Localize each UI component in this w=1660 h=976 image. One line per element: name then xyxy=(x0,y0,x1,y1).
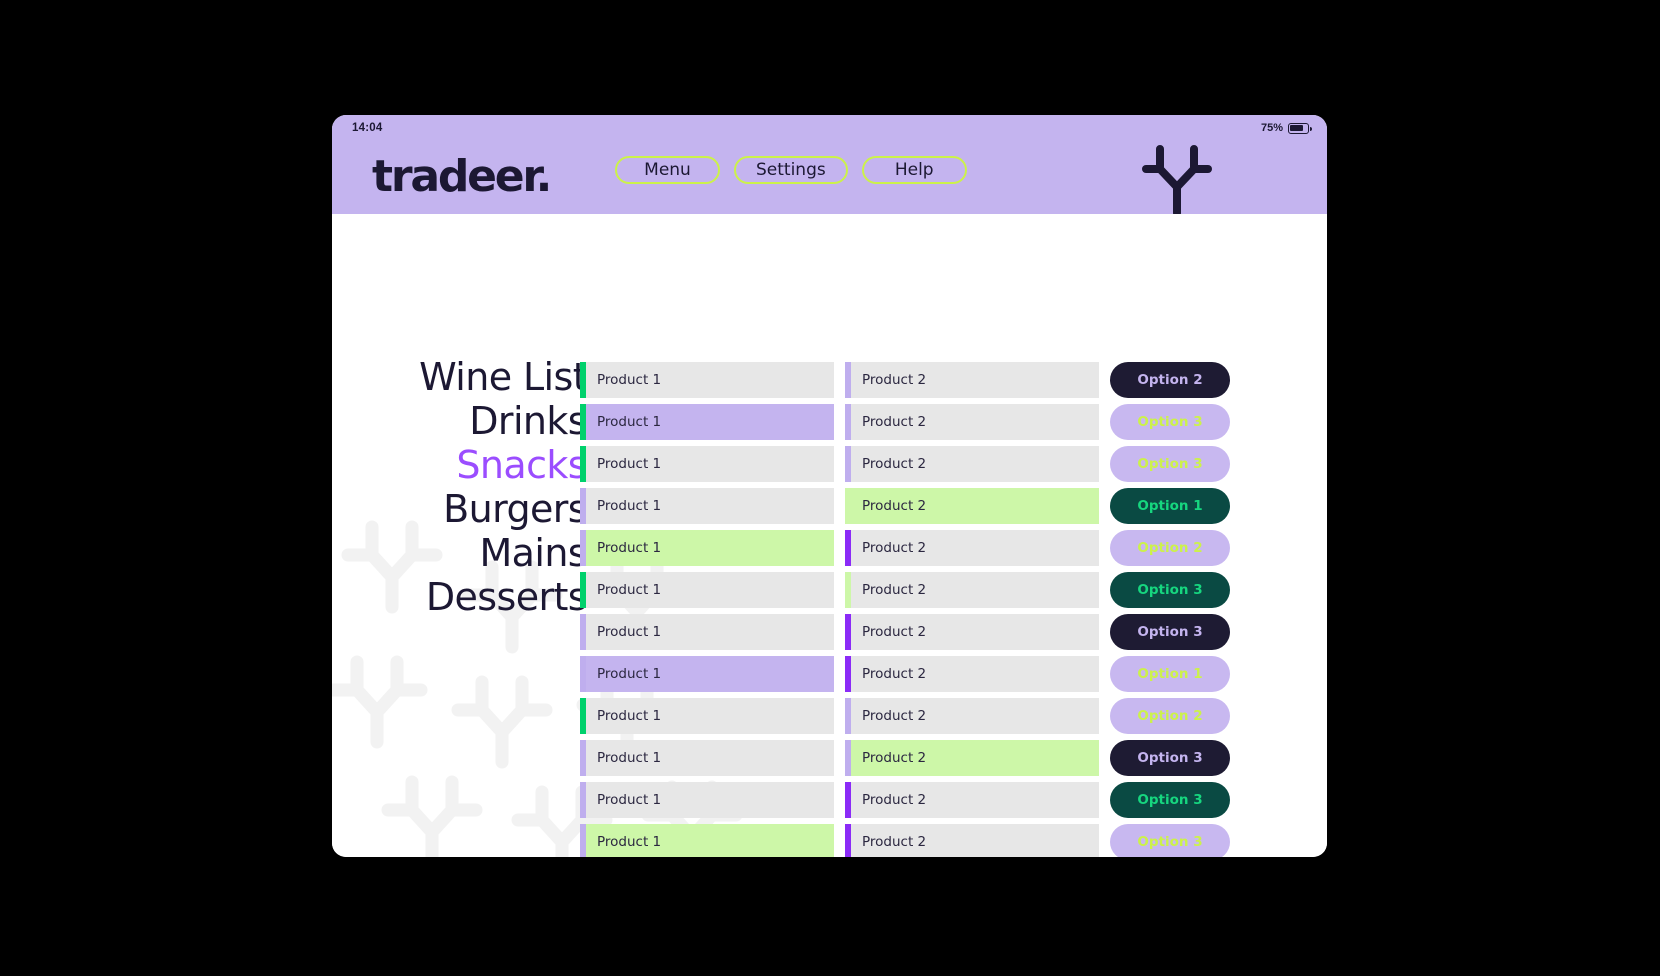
product-cell-label: Product 2 xyxy=(862,372,926,388)
battery-fill xyxy=(1290,125,1302,131)
product-cell-label: Product 1 xyxy=(597,708,661,724)
row-accent-bar xyxy=(580,572,586,608)
brand-wordmark-text: tradeer xyxy=(372,151,536,202)
sidebar-item-mains[interactable]: Mains xyxy=(372,531,587,575)
row-accent-bar xyxy=(845,488,851,524)
option-button-label: Option 3 xyxy=(1137,750,1202,766)
table-row: Product 1Product 2Option 3 xyxy=(580,614,1280,650)
product-cell-label: Product 2 xyxy=(862,750,926,766)
option-button-label: Option 3 xyxy=(1137,582,1202,598)
product-cell-2[interactable]: Product 2 xyxy=(845,488,1099,524)
option-button[interactable]: Option 3 xyxy=(1110,824,1230,857)
category-menu: Wine List Drinks Snacks Burgers Mains De… xyxy=(372,355,587,619)
table-row: Product 1Product 2Option 3 xyxy=(580,404,1280,440)
table-row: Product 1Product 2Option 1 xyxy=(580,488,1280,524)
product-cell-2[interactable]: Product 2 xyxy=(845,446,1099,482)
row-accent-bar xyxy=(580,446,586,482)
product-cell-1[interactable]: Product 1 xyxy=(580,698,834,734)
row-accent-bar xyxy=(580,530,586,566)
main-content: Wine List Drinks Snacks Burgers Mains De… xyxy=(332,214,1327,857)
product-cell-1[interactable]: Product 1 xyxy=(580,782,834,818)
option-button[interactable]: Option 2 xyxy=(1110,362,1230,398)
row-accent-bar xyxy=(845,404,851,440)
row-accent-bar xyxy=(580,488,586,524)
row-accent-bar xyxy=(580,824,586,857)
option-button-label: Option 2 xyxy=(1137,708,1202,724)
product-cell-label: Product 1 xyxy=(597,498,661,514)
option-button-label: Option 1 xyxy=(1137,666,1202,682)
product-cell-label: Product 2 xyxy=(862,456,926,472)
product-cell-label: Product 1 xyxy=(597,540,661,556)
nav-button-settings[interactable]: Settings xyxy=(734,156,848,184)
product-cell-label: Product 1 xyxy=(597,750,661,766)
table-row: Product 1Product 2Option 3 xyxy=(580,740,1280,776)
product-cell-2[interactable]: Product 2 xyxy=(845,698,1099,734)
row-accent-bar xyxy=(845,614,851,650)
option-button-label: Option 2 xyxy=(1137,372,1202,388)
product-cell-1[interactable]: Product 1 xyxy=(580,614,834,650)
row-accent-bar xyxy=(845,362,851,398)
product-cell-1[interactable]: Product 1 xyxy=(580,362,834,398)
product-cell-label: Product 2 xyxy=(862,540,926,556)
row-accent-bar xyxy=(580,782,586,818)
option-button-label: Option 3 xyxy=(1137,792,1202,808)
product-cell-2[interactable]: Product 2 xyxy=(845,782,1099,818)
sidebar-item-drinks[interactable]: Drinks xyxy=(372,399,587,443)
nav-button-help[interactable]: Help xyxy=(862,156,967,184)
row-accent-bar xyxy=(845,824,851,857)
option-button[interactable]: Option 1 xyxy=(1110,656,1230,692)
product-cell-2[interactable]: Product 2 xyxy=(845,740,1099,776)
row-accent-bar xyxy=(845,530,851,566)
table-row: Product 1Product 2Option 2 xyxy=(580,698,1280,734)
sidebar-item-desserts[interactable]: Desserts xyxy=(372,575,587,619)
option-button[interactable]: Option 3 xyxy=(1110,446,1230,482)
table-row: Product 1Product 2Option 2 xyxy=(580,530,1280,566)
product-cell-1[interactable]: Product 1 xyxy=(580,656,834,692)
product-cell-2[interactable]: Product 2 xyxy=(845,824,1099,857)
product-cell-label: Product 1 xyxy=(597,456,661,472)
status-time: 14:04 xyxy=(352,122,382,134)
option-button[interactable]: Option 3 xyxy=(1110,782,1230,818)
nav-button-menu[interactable]: Menu xyxy=(615,156,720,184)
option-button-label: Option 1 xyxy=(1137,498,1202,514)
option-button-label: Option 3 xyxy=(1137,414,1202,430)
option-button[interactable]: Option 3 xyxy=(1110,404,1230,440)
product-cell-1[interactable]: Product 1 xyxy=(580,572,834,608)
row-accent-bar xyxy=(580,404,586,440)
row-accent-bar xyxy=(580,656,586,692)
product-cell-2[interactable]: Product 2 xyxy=(845,404,1099,440)
row-accent-bar xyxy=(845,446,851,482)
product-cell-label: Product 1 xyxy=(597,834,661,850)
tablet-device-frame: 14:04 75% tradeer. Menu Se xyxy=(332,115,1327,857)
product-cell-1[interactable]: Product 1 xyxy=(580,488,834,524)
row-accent-bar xyxy=(580,698,586,734)
product-cell-2[interactable]: Product 2 xyxy=(845,530,1099,566)
sidebar-item-wine-list[interactable]: Wine List xyxy=(372,355,587,399)
row-accent-bar xyxy=(845,698,851,734)
product-cell-label: Product 2 xyxy=(862,414,926,430)
option-button[interactable]: Option 3 xyxy=(1110,614,1230,650)
option-button-label: Option 3 xyxy=(1137,624,1202,640)
row-accent-bar xyxy=(845,656,851,692)
row-accent-bar xyxy=(845,572,851,608)
product-grid: Product 1Product 2Option 2Product 1Produ… xyxy=(580,362,1280,857)
product-cell-label: Product 1 xyxy=(597,666,661,682)
product-cell-label: Product 2 xyxy=(862,498,926,514)
header-nav: Menu Settings Help xyxy=(615,156,967,184)
product-cell-2[interactable]: Product 2 xyxy=(845,614,1099,650)
product-cell-1[interactable]: Product 1 xyxy=(580,446,834,482)
table-row: Product 1Product 2Option 1 xyxy=(580,656,1280,692)
battery-icon xyxy=(1288,123,1309,134)
row-accent-bar xyxy=(845,740,851,776)
product-cell-label: Product 1 xyxy=(597,414,661,430)
product-cell-2[interactable]: Product 2 xyxy=(845,572,1099,608)
product-cell-label: Product 2 xyxy=(862,708,926,724)
product-cell-1[interactable]: Product 1 xyxy=(580,530,834,566)
app-header: 14:04 75% tradeer. Menu Se xyxy=(332,115,1327,214)
table-row: Product 1Product 2Option 3 xyxy=(580,446,1280,482)
option-button[interactable]: Option 3 xyxy=(1110,572,1230,608)
product-cell-label: Product 2 xyxy=(862,624,926,640)
sidebar-item-snacks[interactable]: Snacks xyxy=(372,443,587,487)
battery-percent-label: 75% xyxy=(1261,122,1283,134)
status-bar: 14:04 75% xyxy=(332,115,1327,137)
row-accent-bar xyxy=(580,614,586,650)
table-row: Product 1Product 2Option 3 xyxy=(580,782,1280,818)
nav-button-settings-label: Settings xyxy=(756,160,826,180)
product-cell-label: Product 2 xyxy=(862,792,926,808)
option-button-label: Option 3 xyxy=(1137,456,1202,472)
product-cell-1[interactable]: Product 1 xyxy=(580,404,834,440)
product-cell-label: Product 1 xyxy=(597,624,661,640)
product-cell-2[interactable]: Product 2 xyxy=(845,362,1099,398)
row-accent-bar xyxy=(580,362,586,398)
table-row: Product 1Product 2Option 2 xyxy=(580,362,1280,398)
product-cell-label: Product 2 xyxy=(862,666,926,682)
option-button[interactable]: Option 2 xyxy=(1110,698,1230,734)
option-button[interactable]: Option 1 xyxy=(1110,488,1230,524)
nav-button-help-label: Help xyxy=(895,160,934,180)
option-button-label: Option 3 xyxy=(1137,834,1202,850)
nav-button-menu-label: Menu xyxy=(644,160,691,180)
table-row: Product 1Product 2Option 3 xyxy=(580,572,1280,608)
status-bar-right: 75% xyxy=(1261,122,1309,134)
product-cell-label: Product 2 xyxy=(862,582,926,598)
brand-wordmark-dot: . xyxy=(536,151,551,202)
brand-wordmark: tradeer. xyxy=(372,151,550,202)
option-button[interactable]: Option 3 xyxy=(1110,740,1230,776)
option-button[interactable]: Option 2 xyxy=(1110,530,1230,566)
product-cell-label: Product 1 xyxy=(597,792,661,808)
product-cell-2[interactable]: Product 2 xyxy=(845,656,1099,692)
product-cell-1[interactable]: Product 1 xyxy=(580,824,834,857)
product-cell-label: Product 1 xyxy=(597,372,661,388)
sidebar-item-burgers[interactable]: Burgers xyxy=(372,487,587,531)
row-accent-bar xyxy=(580,740,586,776)
option-button-label: Option 2 xyxy=(1137,540,1202,556)
product-cell-1[interactable]: Product 1 xyxy=(580,740,834,776)
tree-branch-logo-icon xyxy=(1142,143,1212,215)
screen-background: 14:04 75% tradeer. Menu Se xyxy=(0,0,1660,976)
product-cell-label: Product 2 xyxy=(862,834,926,850)
row-accent-bar xyxy=(845,782,851,818)
table-row: Product 1Product 2Option 3 xyxy=(580,824,1280,857)
product-cell-label: Product 1 xyxy=(597,582,661,598)
brand-bar: tradeer. Menu Settings Help xyxy=(332,137,1327,214)
